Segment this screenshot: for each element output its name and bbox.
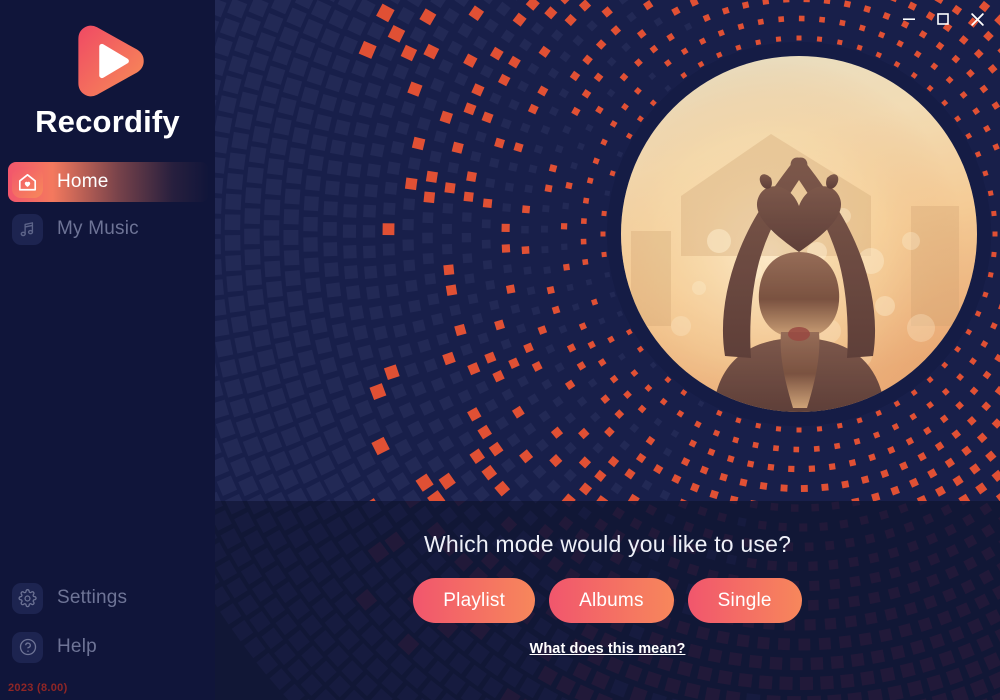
- question-circle-icon: [12, 632, 43, 663]
- minimize-button[interactable]: [892, 2, 926, 36]
- playlist-mode-button[interactable]: Playlist: [413, 578, 535, 623]
- sidebar-item-label: Settings: [57, 587, 127, 609]
- sidebar-item-label: Help: [57, 636, 97, 658]
- music-note-icon: [12, 214, 43, 245]
- hero-photo: [621, 56, 977, 412]
- single-mode-button[interactable]: Single: [688, 578, 802, 623]
- albums-mode-button[interactable]: Albums: [549, 578, 674, 623]
- what-does-this-mean-link[interactable]: What does this mean?: [530, 641, 686, 657]
- home-heart-icon: [12, 167, 43, 198]
- sidebar-item-my-music[interactable]: My Music: [8, 209, 209, 249]
- sidebar-item-label: Home: [57, 171, 108, 193]
- hero-banner: [215, 0, 1000, 501]
- play-logo-icon: [70, 23, 146, 99]
- sidebar-item-settings[interactable]: Settings: [8, 578, 209, 618]
- sidebar-nav-primary: Home My Music: [0, 162, 215, 256]
- sidebar-item-home[interactable]: Home: [8, 162, 209, 202]
- mode-selection-panel: Which mode would you like to use? Playli…: [215, 501, 1000, 700]
- mode-button-group: Playlist Albums Single: [413, 578, 801, 623]
- main-content: Which mode would you like to use? Playli…: [215, 0, 1000, 700]
- maximize-button[interactable]: [926, 2, 960, 36]
- app-window: Recordify Home: [0, 0, 1000, 700]
- page-title: Recordify: [0, 104, 215, 140]
- window-controls: [892, 0, 994, 38]
- close-button[interactable]: [960, 2, 994, 36]
- gear-icon: [12, 583, 43, 614]
- brand-logo: [0, 22, 215, 100]
- sidebar-item-label: My Music: [57, 218, 139, 240]
- sidebar-item-help[interactable]: Help: [8, 627, 209, 667]
- sidebar: Recordify Home: [0, 0, 215, 700]
- heart-hands-illustration: [621, 56, 977, 412]
- mode-question: Which mode would you like to use?: [424, 531, 791, 558]
- sidebar-nav-secondary: Settings Help: [0, 578, 215, 682]
- version-label: 2023 (8.00): [0, 682, 215, 700]
